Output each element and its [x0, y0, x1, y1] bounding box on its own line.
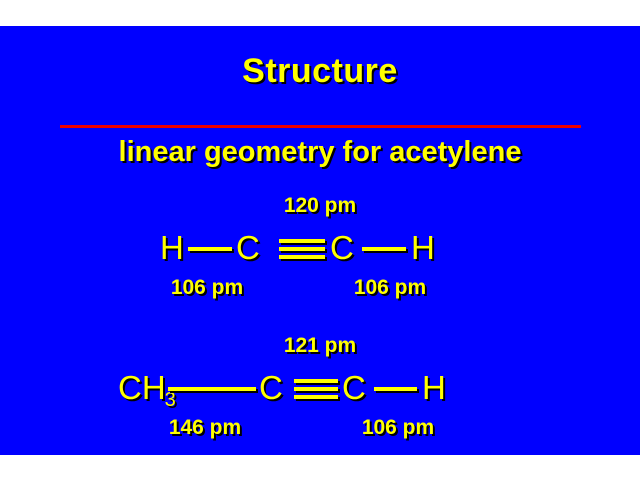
title-divider-rule: [60, 125, 581, 128]
atom-label-hydrogen-left: H: [160, 226, 184, 270]
triple-bond-center: [294, 379, 338, 399]
page-subtitle: linear geometry for acetylene: [0, 136, 640, 169]
single-bond-left: [168, 387, 256, 391]
atom-label-carbon-left: C: [259, 366, 283, 410]
atom-label-carbon-right: C: [342, 366, 366, 410]
triple-bond-center: [279, 239, 325, 259]
molecule-diagram-propyne: 121 pm CH3 C C H 146 pm 106 pm: [0, 334, 640, 454]
methyl-subscript: 3: [165, 389, 176, 411]
bond-length-label-bottom-right: 106 pm: [338, 416, 458, 440]
bond-length-label-bottom-right: 106 pm: [330, 276, 450, 300]
methyl-base: CH: [118, 369, 166, 406]
single-bond-right: [362, 247, 406, 251]
page-title: Structure: [0, 52, 640, 91]
atom-label-hydrogen-right: H: [411, 226, 435, 270]
molecule-chain-row: CH3 C C H: [0, 366, 640, 414]
atom-label-hydrogen-right: H: [422, 366, 446, 410]
bond-length-label-bottom-left: 106 pm: [147, 276, 267, 300]
atom-label-carbon-left: C: [236, 226, 260, 270]
bond-length-label-bottom-left: 146 pm: [145, 416, 265, 440]
molecule-chain-row: H C C H: [0, 226, 640, 274]
single-bond-left: [188, 247, 232, 251]
molecule-diagram-acetylene: 120 pm H C C H 106 pm 106 pm: [0, 194, 640, 314]
single-bond-right: [374, 387, 417, 391]
presentation-slide: Structure linear geometry for acetylene …: [0, 0, 640, 480]
bond-length-label-top: 121 pm: [0, 334, 640, 358]
slide-canvas: Structure linear geometry for acetylene …: [0, 26, 640, 455]
bond-length-label-top: 120 pm: [0, 194, 640, 218]
atom-label-carbon-right: C: [330, 226, 354, 270]
